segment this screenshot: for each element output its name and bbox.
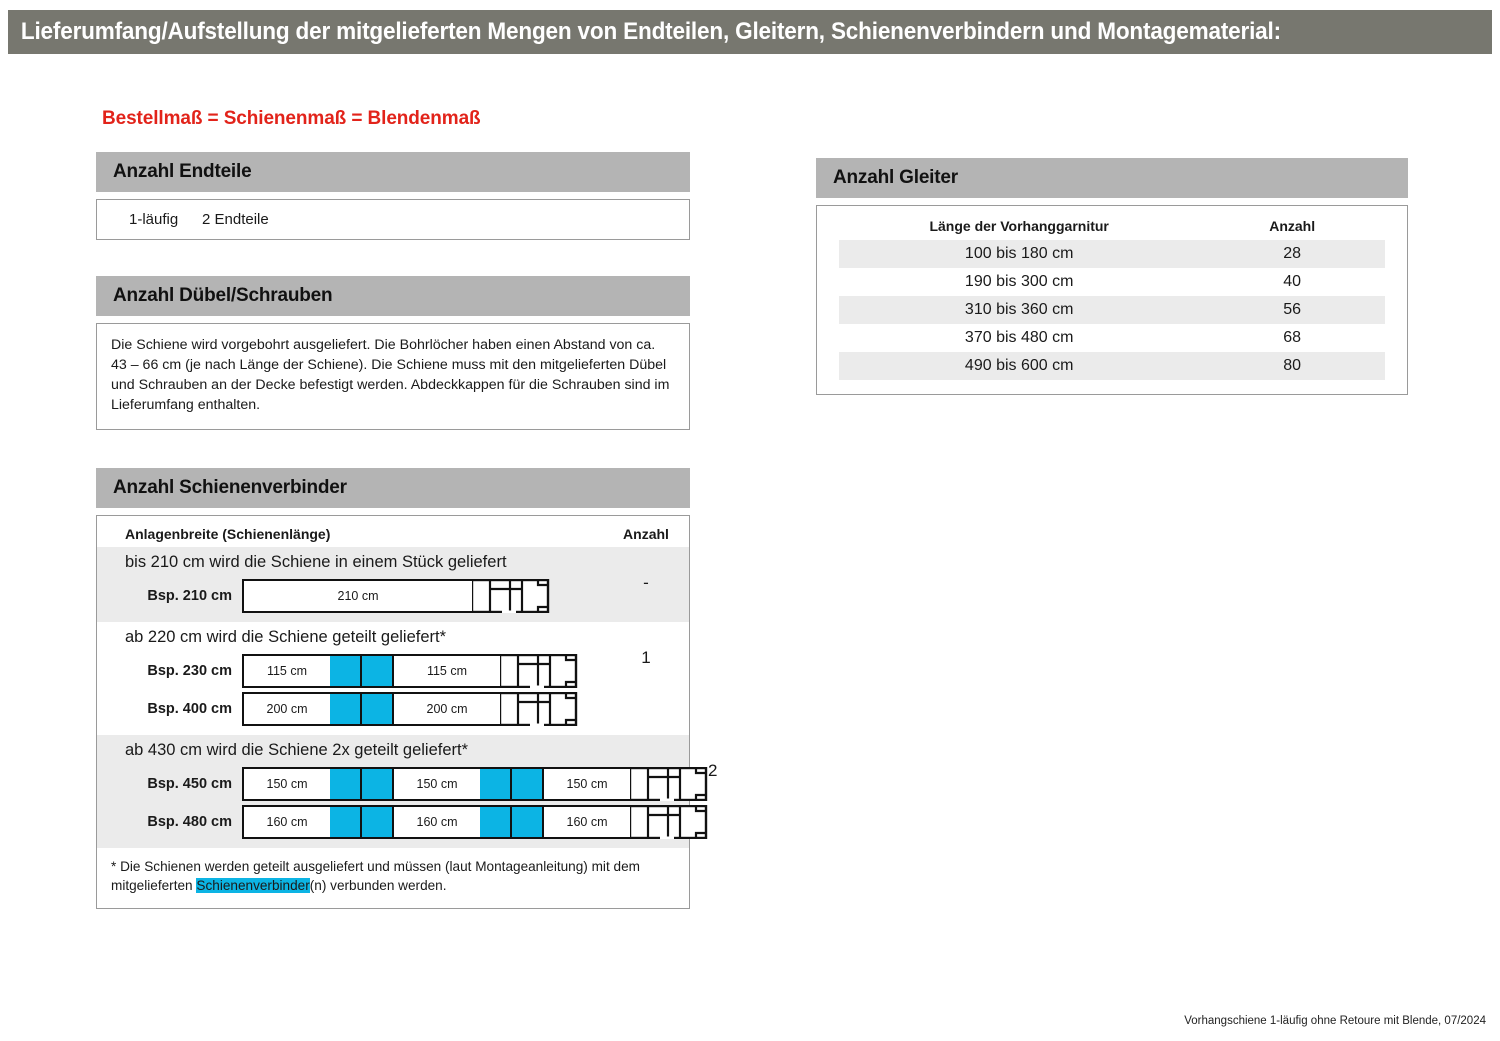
left-column: Bestellmaß = Schienenmaß = Blendenmaß An…	[96, 108, 690, 909]
rail-endcap	[500, 654, 578, 688]
panel-duebel: Die Schiene wird vorgebohrt ausgeliefert…	[96, 323, 690, 430]
group-content: ab 430 cm wird die Schiene 2x geteilt ge…	[97, 735, 708, 848]
gleiter-length-cell: 190 bis 300 cm	[839, 268, 1199, 296]
gleiter-bottom-spacer	[817, 380, 1407, 394]
page-footer: Vorhangschiene 1-läufig ohne Retoure mit…	[1184, 1015, 1486, 1027]
group-title: bis 210 cm wird die Schiene in einem Stü…	[97, 553, 603, 575]
example-label: Bsp. 230 cm	[97, 663, 242, 679]
rail-connector	[480, 805, 542, 839]
table-row: 370 bis 480 cm68	[839, 324, 1385, 352]
panel-endteile: 1-läufig 2 Endteile	[96, 199, 690, 240]
gleiter-count-cell: 80	[1199, 352, 1385, 380]
schienenverbinder-table-header: Anlagenbreite (Schienenlänge) Anzahl	[97, 516, 689, 547]
footnote-text-part2: (n) verbunden werden.	[310, 878, 447, 893]
rail-endcap-drawing	[630, 805, 708, 839]
rail-segment: 115 cm	[392, 654, 500, 688]
rail-connector	[330, 654, 392, 688]
rail-diagram: 150 cm150 cm150 cm	[242, 767, 708, 801]
example-line: Bsp. 400 cm200 cm200 cm	[97, 692, 603, 726]
table-row: 310 bis 360 cm56	[839, 296, 1385, 324]
gleiter-count-cell: 28	[1199, 240, 1385, 268]
endteile-row: 1-läufig 2 Endteile	[97, 200, 689, 239]
gleiter-count-cell: 68	[1199, 324, 1385, 352]
rail-segment: 160 cm	[392, 805, 480, 839]
example-label: Bsp. 400 cm	[97, 701, 242, 717]
rail-segment: 150 cm	[392, 767, 480, 801]
column-header-anlagenbreite: Anlagenbreite (Schienenlänge)	[97, 526, 603, 542]
example-label: Bsp. 450 cm	[97, 776, 242, 792]
rail-segment: 200 cm	[242, 692, 330, 726]
gleiter-count-cell: 40	[1199, 268, 1385, 296]
table-row: 190 bis 300 cm40	[839, 268, 1385, 296]
table-row: 490 bis 600 cm80	[839, 352, 1385, 380]
red-subheading: Bestellmaß = Schienenmaß = Blendenmaß	[102, 108, 690, 130]
rail-endcap-drawing	[500, 654, 578, 688]
section-header-duebel: Anzahl Dübel/Schrauben	[96, 276, 690, 316]
gleiter-length-cell: 490 bis 600 cm	[839, 352, 1199, 380]
panel-schienenverbinder: Anlagenbreite (Schienenlänge) Anzahl bis…	[96, 515, 690, 909]
group-count: 2	[708, 735, 717, 848]
example-line: Bsp. 480 cm160 cm160 cm160 cm	[97, 805, 708, 839]
rail-endcap	[630, 767, 708, 801]
endteile-variant: 1-läufig	[97, 211, 202, 228]
section-title-endteile: Anzahl Endteile	[113, 161, 251, 183]
section-header-endteile: Anzahl Endteile	[96, 152, 690, 192]
table-row: 100 bis 180 cm28	[839, 240, 1385, 268]
gleiter-length-cell: 370 bis 480 cm	[839, 324, 1199, 352]
gleiter-length-cell: 310 bis 360 cm	[839, 296, 1199, 324]
rail-endcap-drawing	[630, 767, 708, 801]
column-header-anzahl: Anzahl	[603, 526, 689, 542]
group-title: ab 220 cm wird die Schiene geteilt gelie…	[97, 628, 603, 650]
schienenverbinder-footnote: * Die Schienen werden geteilt ausgeliefe…	[97, 848, 689, 908]
rail-segment: 210 cm	[242, 579, 472, 613]
example-line: Bsp. 210 cm210 cm	[97, 579, 603, 613]
endteile-value: 2 Endteile	[202, 211, 269, 228]
rail-endcap-drawing	[500, 692, 578, 726]
rail-connector	[330, 805, 392, 839]
example-line: Bsp. 450 cm150 cm150 cm150 cm	[97, 767, 708, 801]
group-title: ab 430 cm wird die Schiene 2x geteilt ge…	[97, 741, 708, 763]
duebel-paragraph: Die Schiene wird vorgebohrt ausgeliefert…	[97, 324, 689, 429]
gleiter-length-cell: 100 bis 180 cm	[839, 240, 1199, 268]
rail-diagram: 210 cm	[242, 579, 550, 613]
rail-segment: 160 cm	[542, 805, 630, 839]
rail-segment: 150 cm	[242, 767, 330, 801]
schienenverbinder-table: Anlagenbreite (Schienenlänge) Anzahl bis…	[97, 516, 689, 908]
gleiter-table-header-row: Länge der Vorhanggarnitur Anzahl	[839, 209, 1385, 240]
schienenverbinder-group-list: bis 210 cm wird die Schiene in einem Stü…	[97, 547, 689, 848]
right-column: Anzahl Gleiter Länge der Vorhanggarnitur…	[816, 158, 1408, 395]
footnote-highlighted-term: Schienenverbinder	[196, 878, 309, 893]
section-title-schienenverbinder: Anzahl Schienenverbinder	[113, 477, 347, 499]
rail-segment: 160 cm	[242, 805, 330, 839]
group-content: bis 210 cm wird die Schiene in einem Stü…	[97, 547, 603, 622]
page-title: Lieferumfang/Aufstellung der mitgeliefer…	[8, 18, 1281, 46]
section-header-schienenverbinder: Anzahl Schienenverbinder	[96, 468, 690, 508]
gleiter-count-cell: 56	[1199, 296, 1385, 324]
column-header-anzahl-gleiter: Anzahl	[1199, 209, 1385, 240]
rail-segment: 150 cm	[542, 767, 630, 801]
schienenverbinder-group: ab 220 cm wird die Schiene geteilt gelie…	[97, 622, 689, 735]
rail-endcap	[500, 692, 578, 726]
rail-endcap	[630, 805, 708, 839]
example-label: Bsp. 210 cm	[97, 588, 242, 604]
schienenverbinder-group: bis 210 cm wird die Schiene in einem Stü…	[97, 547, 689, 622]
gleiter-table-body: 100 bis 180 cm28190 bis 300 cm40310 bis …	[839, 240, 1385, 380]
rail-endcap	[472, 579, 550, 613]
group-count: -	[603, 547, 689, 622]
gleiter-table: Länge der Vorhanggarnitur Anzahl 100 bis…	[839, 209, 1385, 380]
panel-gleiter: Länge der Vorhanggarnitur Anzahl 100 bis…	[816, 205, 1408, 395]
rail-segment: 115 cm	[242, 654, 330, 688]
rail-connector	[330, 767, 392, 801]
page-header-banner: Lieferumfang/Aufstellung der mitgeliefer…	[8, 10, 1492, 54]
section-title-gleiter: Anzahl Gleiter	[833, 167, 958, 189]
group-count: 1	[603, 622, 689, 735]
rail-connector	[330, 692, 392, 726]
group-content: ab 220 cm wird die Schiene geteilt gelie…	[97, 622, 603, 735]
rail-connector	[480, 767, 542, 801]
rail-segment: 200 cm	[392, 692, 500, 726]
example-line: Bsp. 230 cm115 cm115 cm	[97, 654, 603, 688]
schienenverbinder-group: ab 430 cm wird die Schiene 2x geteilt ge…	[97, 735, 689, 848]
column-header-laenge: Länge der Vorhanggarnitur	[839, 209, 1199, 240]
rail-diagram: 200 cm200 cm	[242, 692, 578, 726]
rail-endcap-drawing	[472, 579, 550, 613]
rail-diagram: 115 cm115 cm	[242, 654, 578, 688]
rail-diagram: 160 cm160 cm160 cm	[242, 805, 708, 839]
example-label: Bsp. 480 cm	[97, 814, 242, 830]
section-header-gleiter: Anzahl Gleiter	[816, 158, 1408, 198]
section-title-duebel: Anzahl Dübel/Schrauben	[113, 285, 332, 307]
